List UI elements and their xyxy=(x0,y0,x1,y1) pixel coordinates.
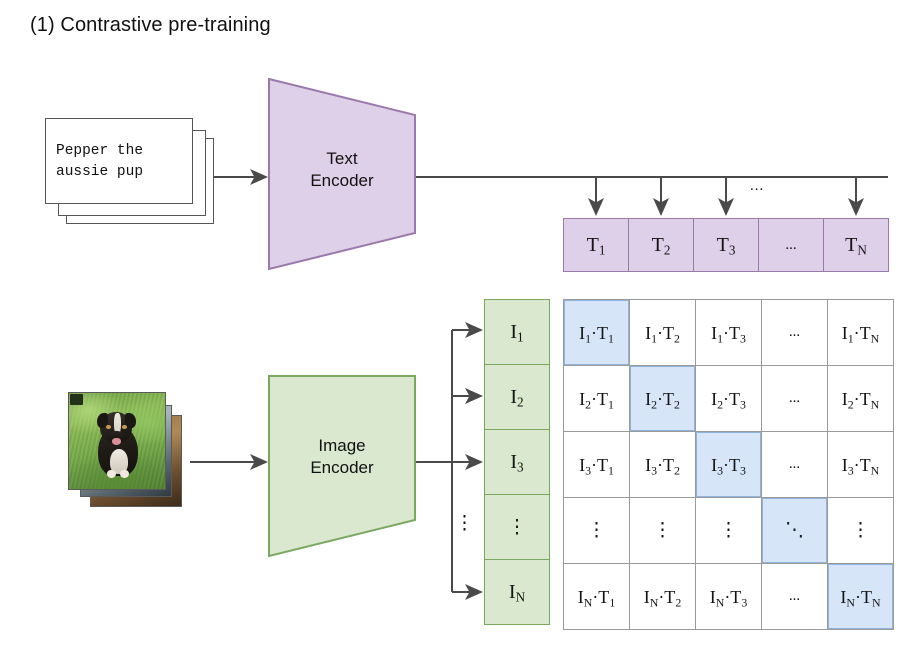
similarity-cell-1-1: I1·T1 xyxy=(564,300,629,365)
similarity-cell-5-3: IN·T3 xyxy=(696,564,761,629)
horizontal-ellipsis: ... xyxy=(789,390,800,407)
similarity-cell-1-2: I1·T2 xyxy=(630,300,695,365)
puppy-paw-right xyxy=(120,470,129,479)
image-embedding-column: I1I2I3⋮IN xyxy=(484,299,550,625)
similarity-label: I1·T1 xyxy=(579,324,614,342)
puppy-eye-right xyxy=(122,425,127,429)
similarity-cell-2-4: ... xyxy=(762,366,827,431)
similarity-cell-1-5: I1·TN xyxy=(828,300,893,365)
similarity-label: IN·T3 xyxy=(710,588,748,606)
similarity-label: I2·T1 xyxy=(579,390,614,408)
text-embedding-label: T1 xyxy=(587,235,606,255)
text-embedding-cell-3: T3 xyxy=(694,219,758,271)
image-embedding-label: IN xyxy=(509,582,525,602)
horizontal-ellipsis: ... xyxy=(789,324,800,341)
diagonal-ellipsis: ⋱ xyxy=(785,519,804,542)
image-embedding-label: I1 xyxy=(510,322,523,342)
image-embedding-cell-2: I2 xyxy=(485,365,549,429)
similarity-label: I2·TN xyxy=(842,390,880,408)
similarity-label: IN·TN xyxy=(840,588,880,606)
figure-canvas: (1) Contrastive pre-training Pepper the … xyxy=(0,0,906,654)
image-embedding-label: I3 xyxy=(510,452,523,472)
similarity-cell-4-2: ⋮ xyxy=(630,498,695,563)
vertical-ellipsis: ⋮ xyxy=(653,519,672,542)
text-embedding-cell-ellipsis: ... xyxy=(759,219,823,271)
similarity-cell-5-5: IN·TN xyxy=(828,564,893,629)
similarity-cell-3-5: I3·TN xyxy=(828,432,893,497)
image-embedding-label: I2 xyxy=(510,387,523,407)
similarity-label: I3·T2 xyxy=(645,456,680,474)
similarity-label: I3·T1 xyxy=(579,456,614,474)
caption-line-1: Pepper the xyxy=(56,143,143,159)
image-branch-ellipsis: ⋮ xyxy=(455,512,474,535)
similarity-label: IN·T1 xyxy=(578,588,616,606)
text-embedding-row: T1T2T3...TN xyxy=(563,218,889,272)
similarity-cell-5-1: IN·T1 xyxy=(564,564,629,629)
similarity-cell-2-2: I2·T2 xyxy=(630,366,695,431)
similarity-label: I2·T2 xyxy=(645,390,680,408)
horizontal-ellipsis: ... xyxy=(789,456,800,473)
vertical-ellipsis: ⋮ xyxy=(719,519,738,542)
text-caption-label: Pepper the aussie pup xyxy=(56,141,188,183)
text-embedding-label: T2 xyxy=(652,235,671,255)
similarity-cell-3-2: I3·T2 xyxy=(630,432,695,497)
vertical-ellipsis: ⋮ xyxy=(851,519,870,542)
similarity-label: I1·T2 xyxy=(645,324,680,342)
text-embedding-label: T3 xyxy=(717,235,736,255)
vertical-ellipsis: ⋮ xyxy=(587,519,606,542)
text-embedding-label: TN xyxy=(845,235,867,255)
caption-line-2: aussie pup xyxy=(56,164,143,180)
similarity-label: IN·T2 xyxy=(644,588,682,606)
similarity-matrix: I1·T1I1·T2I1·T3...I1·TNI2·T1I2·T2I2·T3..… xyxy=(563,299,894,630)
text-encoder-shape xyxy=(268,78,416,270)
similarity-label: I3·T3 xyxy=(711,456,746,474)
similarity-cell-3-3: I3·T3 xyxy=(696,432,761,497)
text-embedding-cell-n: TN xyxy=(824,219,888,271)
photo-corner-shadow xyxy=(70,394,83,405)
ellipsis-label: ... xyxy=(785,237,796,254)
text-row-ellipsis: ... xyxy=(750,178,764,195)
similarity-cell-2-5: I2·TN xyxy=(828,366,893,431)
image-encoder-block: Image Encoder xyxy=(268,375,416,557)
similarity-cell-2-3: I2·T3 xyxy=(696,366,761,431)
image-embedding-cell-n: IN xyxy=(485,560,549,624)
similarity-cell-2-1: I2·T1 xyxy=(564,366,629,431)
image-embedding-cell-ellipsis: ⋮ xyxy=(485,495,549,559)
image-card-front-puppy-photo xyxy=(68,392,166,490)
similarity-cell-1-4: ... xyxy=(762,300,827,365)
similarity-cell-3-1: I3·T1 xyxy=(564,432,629,497)
text-encoder-block: Text Encoder xyxy=(268,78,416,270)
similarity-cell-5-2: IN·T2 xyxy=(630,564,695,629)
similarity-cell-3-4: ... xyxy=(762,432,827,497)
text-embedding-cell-2: T2 xyxy=(629,219,693,271)
horizontal-ellipsis: ... xyxy=(789,588,800,605)
puppy-tongue xyxy=(112,438,121,445)
image-encoder-shape xyxy=(268,375,416,557)
ellipsis-label: ⋮ xyxy=(508,516,527,539)
similarity-cell-4-1: ⋮ xyxy=(564,498,629,563)
similarity-cell-4-3: ⋮ xyxy=(696,498,761,563)
image-embedding-cell-3: I3 xyxy=(485,430,549,494)
similarity-cell-5-4: ... xyxy=(762,564,827,629)
similarity-label: I2·T3 xyxy=(711,390,746,408)
page-title: (1) Contrastive pre-training xyxy=(30,14,271,37)
similarity-label: I3·TN xyxy=(842,456,880,474)
similarity-cell-4-5: ⋮ xyxy=(828,498,893,563)
text-embedding-cell-1: T1 xyxy=(564,219,628,271)
similarity-label: I1·TN xyxy=(842,324,880,342)
similarity-cell-1-3: I1·T3 xyxy=(696,300,761,365)
image-embedding-cell-1: I1 xyxy=(485,300,549,364)
similarity-cell-4-4: ⋱ xyxy=(762,498,827,563)
similarity-label: I1·T3 xyxy=(711,324,746,342)
puppy-eye-left xyxy=(106,425,111,429)
